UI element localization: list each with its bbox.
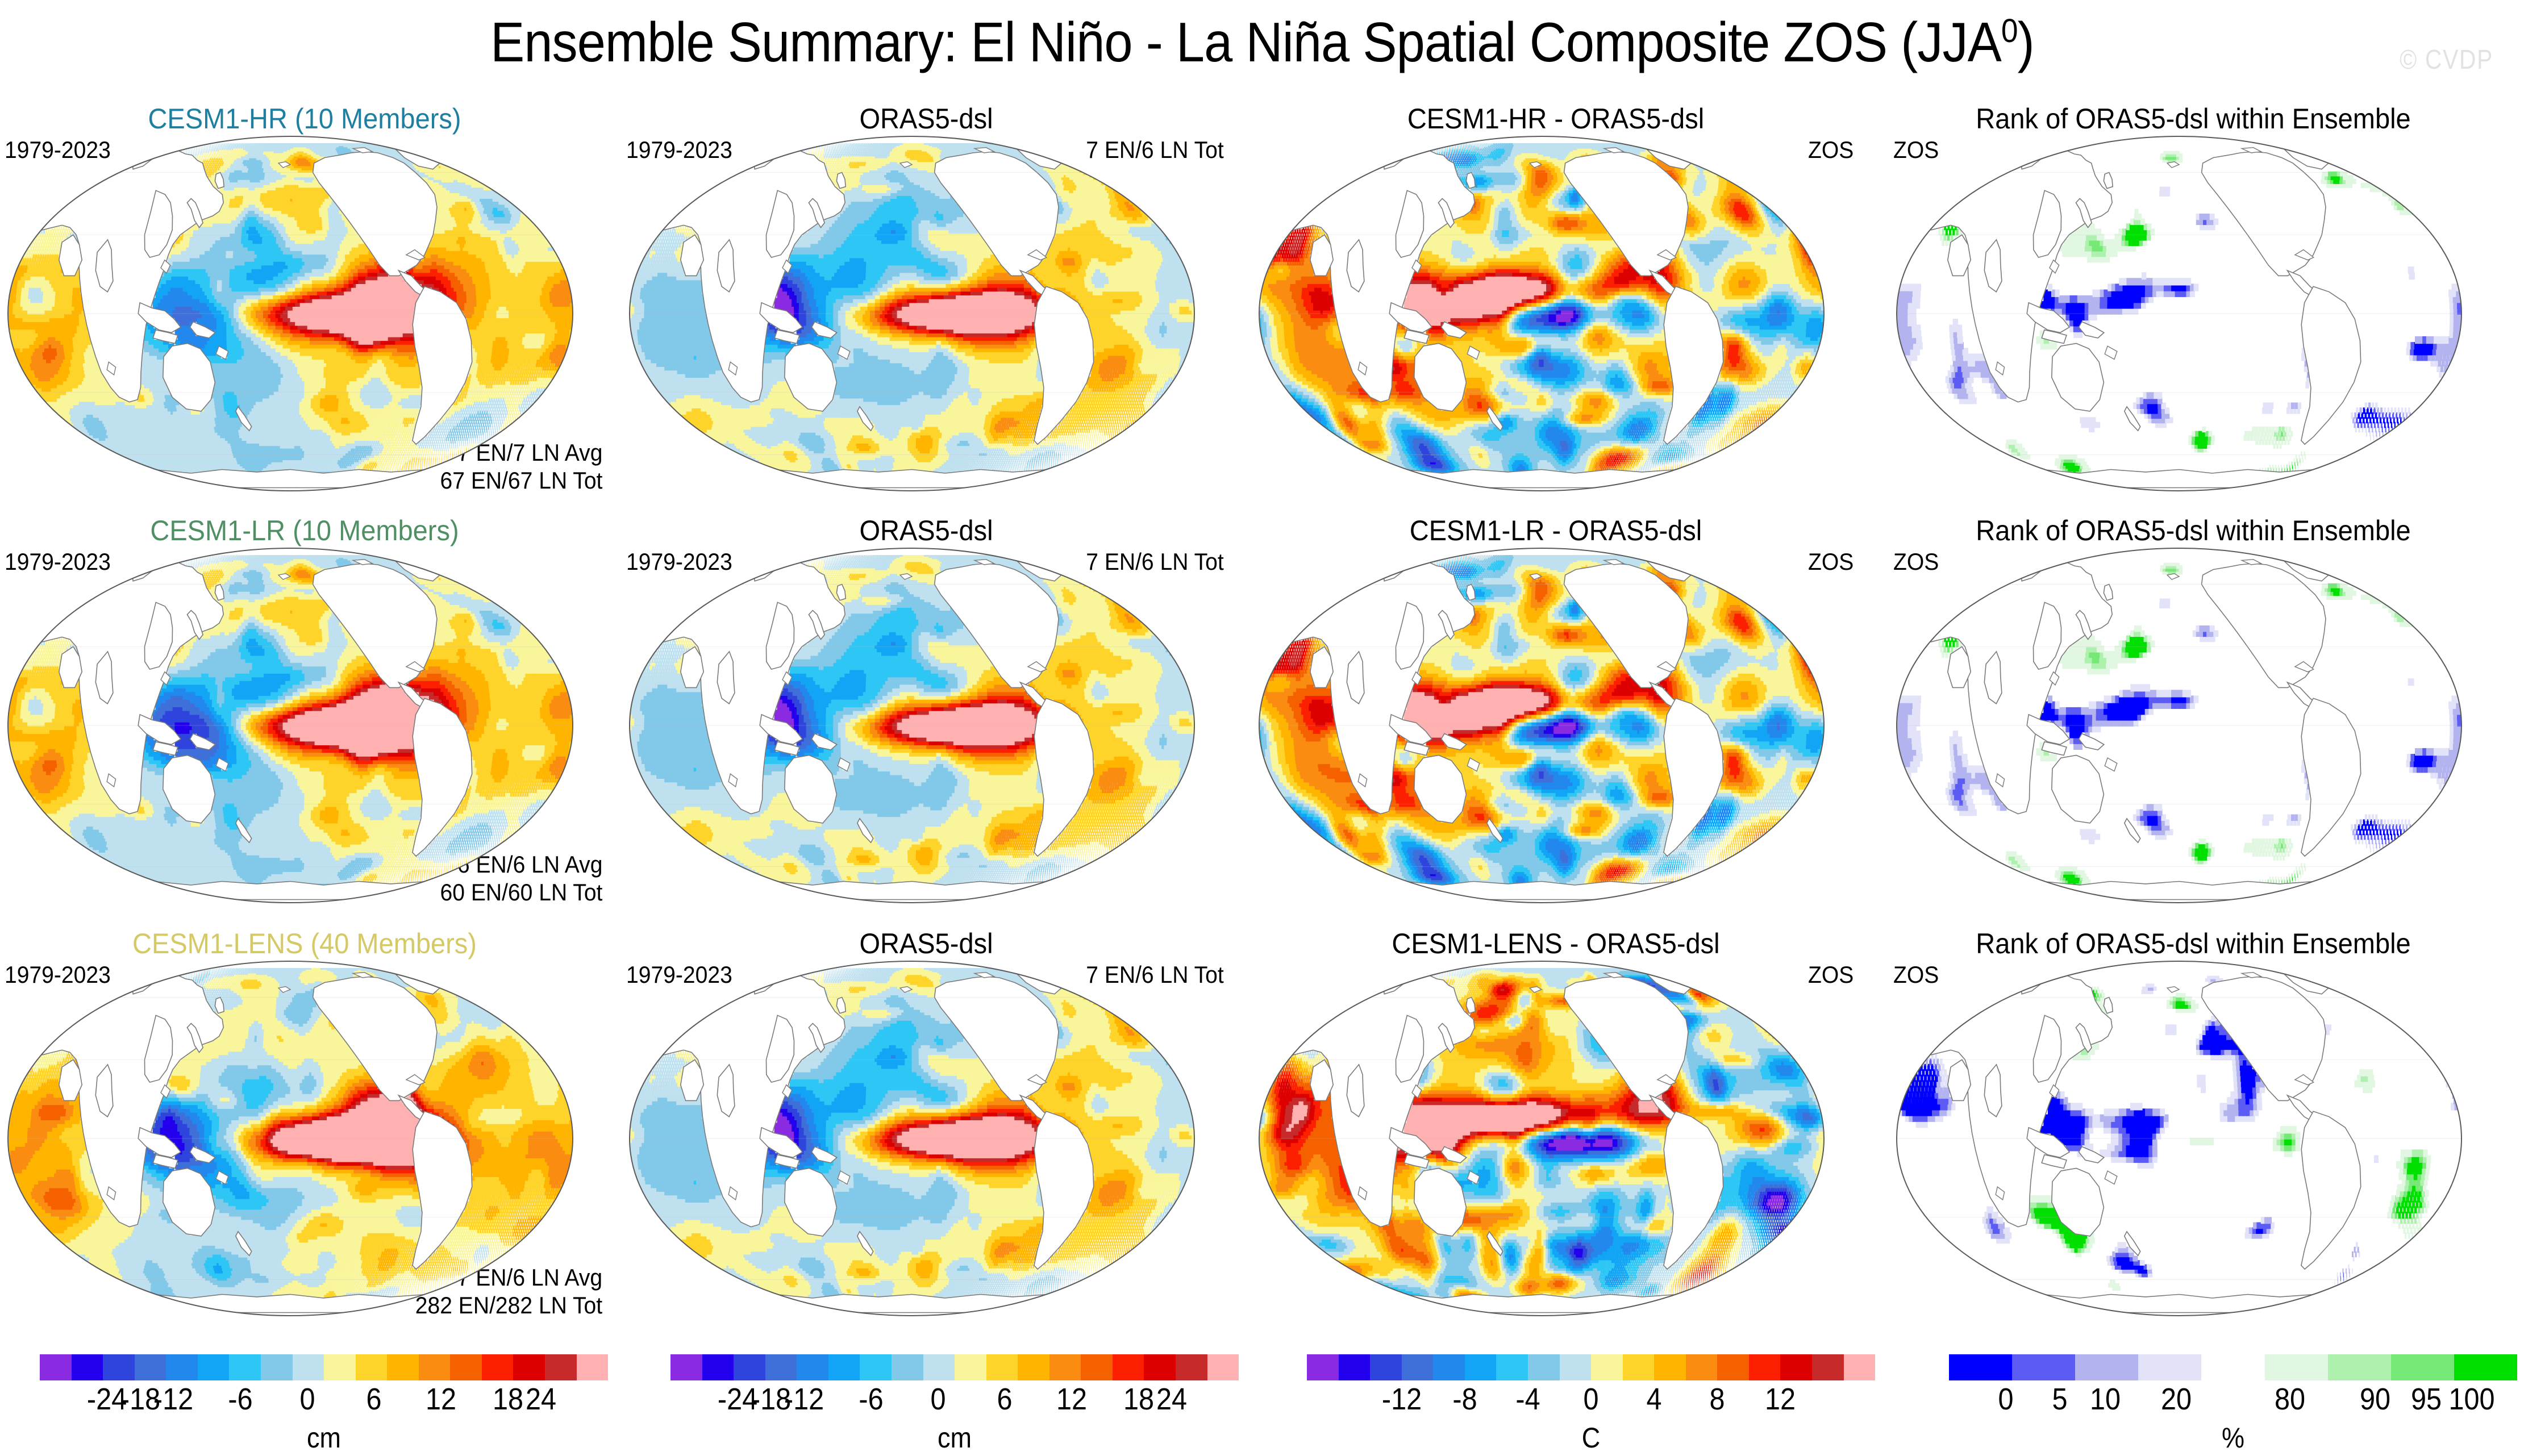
colorbar-tick-label: 10	[2090, 1382, 2121, 1417]
colorbar-swatch	[2328, 1354, 2391, 1380]
map-rank-oras5-within-ensemble-row2[interactable]	[1892, 544, 2466, 907]
map-rank-oras5-within-ensemble-row1[interactable]	[1892, 132, 2466, 495]
colorbar-tick-label: 18	[492, 1382, 523, 1417]
map-cesm1-hr-minus-oras5[interactable]	[1255, 132, 1829, 495]
title-close-paren: )	[2017, 11, 2034, 73]
colorbar-tick-label: -6	[228, 1382, 252, 1417]
panel-title-cesm1-lr-composite: CESM1-LR (10 Members)	[22, 514, 588, 547]
colorbar-swatch	[860, 1354, 892, 1380]
panel-cesm1-lr-minus-oras5[interactable]: CESM1-LR - ORAS5-dslZOS	[1255, 514, 1857, 912]
colorbar-swatch	[955, 1354, 986, 1380]
colorbar-swatch	[828, 1354, 860, 1380]
panel-oras5-dsl-composite-row2[interactable]: ORAS5-dsl1979-20237 EN/6 LN Tot	[625, 514, 1227, 912]
colorbar-swatch	[1339, 1354, 1371, 1380]
cvdp-watermark: © CVDP	[2400, 44, 2493, 76]
colorbar-swatch	[1402, 1354, 1434, 1380]
colorbar-tick-label: 90	[2360, 1382, 2390, 1417]
colorbar-swatch	[2075, 1354, 2138, 1380]
colorbar-swatch	[387, 1354, 419, 1380]
panel-cesm1-lens-composite[interactable]: CESM1-LENS (40 Members)1979-20237 EN/6 L…	[3, 927, 606, 1325]
map-canvas	[625, 132, 1199, 495]
panel-cesm1-hr-minus-oras5[interactable]: CESM1-HR - ORAS5-dslZOS	[1255, 102, 1857, 500]
colorbar-cm-col1[interactable]: -24-18-12-606121824cm	[40, 1354, 608, 1454]
colorbar-tick-label: 24	[1156, 1382, 1187, 1417]
panel-cesm1-lr-composite[interactable]: CESM1-LR (10 Members)1979-20236 EN/6 LN …	[3, 514, 606, 912]
map-canvas	[3, 132, 577, 495]
colorbar-swatch	[198, 1354, 230, 1380]
colorbar-unit-label: cm	[68, 1421, 580, 1454]
colorbar-swatch	[1623, 1354, 1655, 1380]
panel-title-cesm1-lens-composite: CESM1-LENS (40 Members)	[22, 927, 588, 960]
colorbar-swatch	[1686, 1354, 1718, 1380]
title-bar: Ensemble Summary: El Niño - La Niña Spat…	[0, 10, 2524, 74]
colorbar-swatch	[1049, 1354, 1081, 1380]
colorbar-tick-label: 0	[1998, 1382, 2013, 1417]
colorbar-swatch	[72, 1354, 103, 1380]
colorbar-swatch	[545, 1354, 577, 1380]
colorbar-swatch	[1433, 1354, 1465, 1380]
colorbar-swatch	[40, 1354, 72, 1380]
colorbar-swatch	[1113, 1354, 1144, 1380]
colorbar-swatch	[293, 1354, 324, 1380]
panel-title-rank-oras5-within-ensemble-row1: Rank of ORAS5-dsl within Ensemble	[1910, 102, 2476, 135]
colorbar-swatch	[1812, 1354, 1844, 1380]
colorbar-tick-label: 5	[2052, 1382, 2067, 1417]
colorbar-swatch	[513, 1354, 545, 1380]
colorbar-swatch	[1496, 1354, 1528, 1380]
colorbar-swatch	[1307, 1354, 1339, 1380]
panel-cesm1-hr-composite[interactable]: CESM1-HR (10 Members)1979-20237 EN/7 LN …	[3, 102, 606, 500]
colorbar-tick-label: 4	[1646, 1382, 1661, 1417]
colorbar-ticks: -24-18-12-606121824	[670, 1382, 1239, 1418]
colorbar-strip	[1949, 1354, 2517, 1380]
colorbar-tick-label: -12	[784, 1382, 824, 1417]
colorbar-swatch	[450, 1354, 482, 1380]
colorbar-tick-label: 12	[426, 1382, 456, 1417]
colorbar-swatch	[2201, 1354, 2264, 1380]
colorbar-swatch	[892, 1354, 923, 1380]
colorbar-swatch	[1081, 1354, 1113, 1380]
map-canvas	[3, 957, 577, 1320]
colorbar-swatch	[1560, 1354, 1592, 1380]
panel-title-cesm1-hr-minus-oras5: CESM1-HR - ORAS5-dsl	[1273, 102, 1839, 135]
panel-rank-oras5-within-ensemble-row2[interactable]: Rank of ORAS5-dsl within EnsembleZOS	[1892, 514, 2494, 912]
colorbar-tick-label: 100	[2448, 1382, 2494, 1417]
colorbar-swatch	[261, 1354, 293, 1380]
colorbar-swatch	[1144, 1354, 1176, 1380]
colorbar-tick-label: -12	[153, 1382, 193, 1417]
colorbar-swatch	[1018, 1354, 1049, 1380]
map-cesm1-lr-minus-oras5[interactable]	[1255, 544, 1829, 907]
colorbar-swatch	[356, 1354, 388, 1380]
colorbar-unit-label: C	[1335, 1421, 1847, 1454]
colorbar-swatch	[1528, 1354, 1560, 1380]
colorbar-swatch	[702, 1354, 734, 1380]
map-canvas	[1892, 132, 2466, 495]
colorbar-swatch	[1207, 1354, 1239, 1380]
panel-title-rank-oras5-within-ensemble-row3: Rank of ORAS5-dsl within Ensemble	[1910, 927, 2476, 960]
colorbar-tick-label: 6	[366, 1382, 382, 1417]
colorbar-unit-label: cm	[699, 1421, 1210, 1454]
colorbar-tick-label: 20	[2161, 1382, 2192, 1417]
colorbar-tick-label: 8	[1709, 1382, 1725, 1417]
colorbar-ticks: 051020809095100	[1949, 1382, 2517, 1418]
map-canvas	[625, 957, 1199, 1320]
colorbar-ticks: -12-8-404812	[1307, 1382, 1875, 1418]
map-cesm1-lr-composite[interactable]	[3, 544, 577, 907]
colorbar-ticks: -24-18-12-606121824	[40, 1382, 608, 1418]
colorbar-swatch	[1176, 1354, 1207, 1380]
panel-rank-oras5-within-ensemble-row1[interactable]: Rank of ORAS5-dsl within EnsembleZOS	[1892, 102, 2494, 500]
colorbar-tick-label: 18	[1123, 1382, 1153, 1417]
map-canvas	[3, 544, 577, 907]
colorbar-swatch	[734, 1354, 765, 1380]
colorbar-tick-label: 80	[2275, 1382, 2305, 1417]
colorbar-swatch	[103, 1354, 135, 1380]
colorbar-swatch	[419, 1354, 451, 1380]
colorbar-tick-label: -6	[859, 1382, 883, 1417]
colorbar-tick-label: 0	[299, 1382, 315, 1417]
title-superscript: 0	[2001, 12, 2017, 49]
map-canvas	[1255, 132, 1829, 495]
page-title: Ensemble Summary: El Niño - La Niña Spat…	[490, 10, 2034, 74]
colorbar-c-col3[interactable]: -12-8-404812C	[1307, 1354, 1875, 1454]
colorbar-tick-label: 0	[930, 1382, 946, 1417]
colorbar-swatch	[765, 1354, 797, 1380]
title-text: Ensemble Summary: El Niño - La Niña Spat…	[490, 11, 2001, 73]
map-canvas	[1892, 957, 2466, 1320]
colorbar-swatch	[670, 1354, 702, 1380]
colorbar-strip	[670, 1354, 1239, 1380]
colorbar-swatch	[1844, 1354, 1876, 1380]
colorbar-tick-label: -8	[1452, 1382, 1477, 1417]
map-oras5-dsl-composite-row3[interactable]	[625, 957, 1199, 1320]
panel-oras5-dsl-composite-row3[interactable]: ORAS5-dsl1979-20237 EN/6 LN Tot	[625, 927, 1227, 1325]
panel-title-oras5-dsl-composite-row3: ORAS5-dsl	[643, 927, 1209, 960]
colorbar-swatch	[1654, 1354, 1686, 1380]
colorbar-tick-label: 12	[1056, 1382, 1087, 1417]
colorbar-tick-label: 0	[1583, 1382, 1598, 1417]
colorbar-swatch	[2138, 1354, 2201, 1380]
map-canvas	[1255, 957, 1829, 1320]
panel-title-oras5-dsl-composite-row1: ORAS5-dsl	[643, 102, 1209, 135]
map-canvas	[1892, 544, 2466, 907]
map-canvas	[625, 544, 1199, 907]
panel-oras5-dsl-composite-row1[interactable]: ORAS5-dsl1979-20237 EN/6 LN Tot	[625, 102, 1227, 500]
colorbar-tick-label: -12	[1382, 1382, 1422, 1417]
colorbar-tick-label: -4	[1515, 1382, 1540, 1417]
colorbar-swatch	[2012, 1354, 2075, 1380]
panel-cesm1-lens-minus-oras5[interactable]: CESM1-LENS - ORAS5-dslZOS	[1255, 927, 1857, 1325]
map-canvas	[1255, 544, 1829, 907]
colorbar-tick-label: 95	[2411, 1382, 2442, 1417]
map-oras5-dsl-composite-row2[interactable]	[625, 544, 1199, 907]
colorbar-swatch	[166, 1354, 198, 1380]
figure-canvas: Ensemble Summary: El Niño - La Niña Spat…	[0, 0, 2524, 1456]
colorbar-swatch	[577, 1354, 609, 1380]
colorbar-swatch	[324, 1354, 356, 1380]
colorbar-swatch	[135, 1354, 166, 1380]
panel-title-cesm1-lens-minus-oras5: CESM1-LENS - ORAS5-dsl	[1273, 927, 1839, 960]
map-cesm1-hr-composite[interactable]	[3, 132, 577, 495]
colorbar-swatch	[2454, 1354, 2517, 1380]
colorbar-strip	[1307, 1354, 1875, 1380]
colorbar-swatch	[482, 1354, 514, 1380]
colorbar-tick-label: 24	[526, 1382, 556, 1417]
map-oras5-dsl-composite-row1[interactable]	[625, 132, 1199, 495]
map-cesm1-lens-minus-oras5[interactable]	[1255, 957, 1829, 1320]
colorbar-swatch	[229, 1354, 261, 1380]
map-cesm1-lens-composite[interactable]	[3, 957, 577, 1320]
panel-title-cesm1-hr-composite: CESM1-HR (10 Members)	[22, 102, 588, 135]
colorbar-unit-label: %	[1977, 1421, 2489, 1454]
colorbar-swatch	[2265, 1354, 2328, 1380]
panel-title-oras5-dsl-composite-row2: ORAS5-dsl	[643, 514, 1209, 547]
colorbar-swatch	[1717, 1354, 1749, 1380]
colorbar-swatch	[1780, 1354, 1812, 1380]
colorbar-swatch	[923, 1354, 955, 1380]
colorbar-tick-label: 12	[1765, 1382, 1796, 1417]
panel-title-cesm1-lr-minus-oras5: CESM1-LR - ORAS5-dsl	[1273, 514, 1839, 547]
colorbar-swatch	[797, 1354, 828, 1380]
map-rank-oras5-within-ensemble-row3[interactable]	[1892, 957, 2466, 1320]
colorbar-strip	[40, 1354, 608, 1380]
colorbar-swatch	[986, 1354, 1018, 1380]
colorbar-percent-col4[interactable]: 051020809095100%	[1949, 1354, 2517, 1454]
panel-title-rank-oras5-within-ensemble-row2: Rank of ORAS5-dsl within Ensemble	[1910, 514, 2476, 547]
panel-rank-oras5-within-ensemble-row3[interactable]: Rank of ORAS5-dsl within EnsembleZOS	[1892, 927, 2494, 1325]
colorbar-swatch	[1949, 1354, 2012, 1380]
colorbar-tick-label: 6	[997, 1382, 1013, 1417]
colorbar-swatch	[2391, 1354, 2454, 1380]
colorbar-swatch	[1370, 1354, 1402, 1380]
colorbar-swatch	[1465, 1354, 1497, 1380]
colorbar-cm-col2[interactable]: -24-18-12-606121824cm	[670, 1354, 1239, 1454]
colorbar-swatch	[1749, 1354, 1781, 1380]
colorbar-swatch	[1591, 1354, 1623, 1380]
